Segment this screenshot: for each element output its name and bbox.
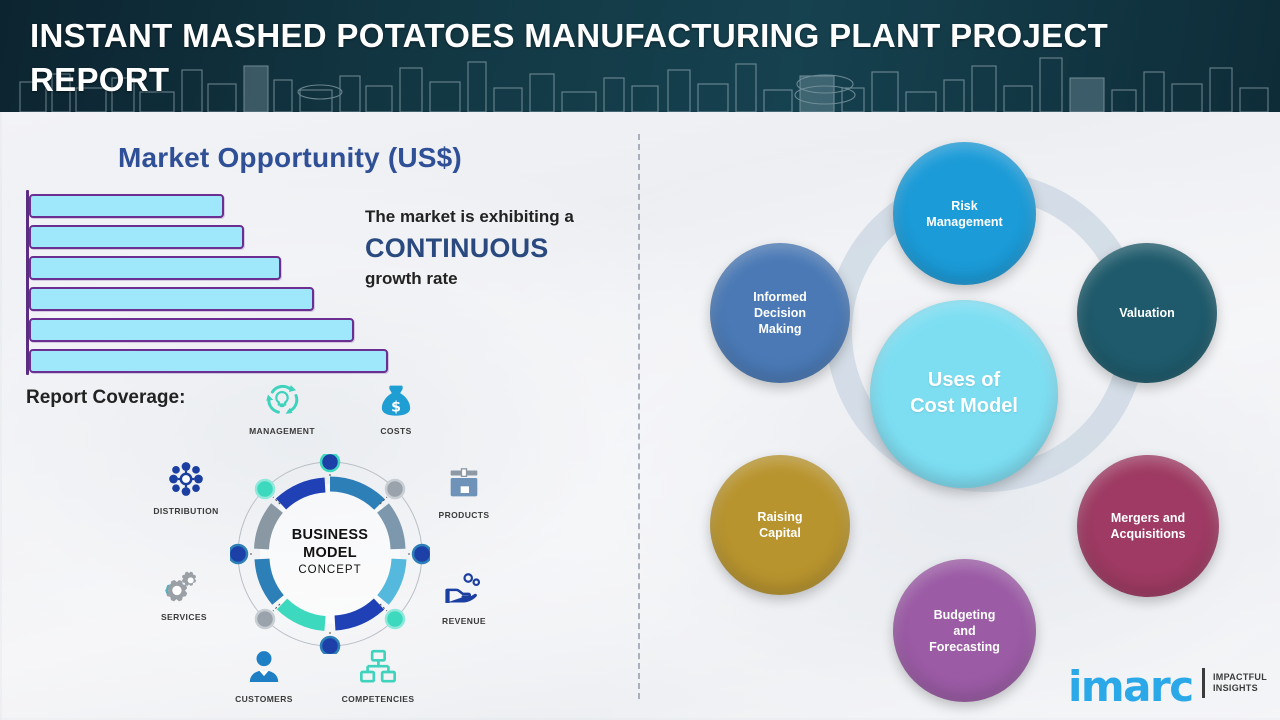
left-panel: Market Opportunity (US$) The market is e… bbox=[0, 112, 638, 720]
node-label-line-1: Informed bbox=[753, 289, 806, 305]
coverage-label: MANAGEMENT bbox=[234, 426, 330, 437]
business-model-infographic: BUSINESS MODEL CONCEPT bbox=[120, 372, 540, 712]
node-label-line-2: Capital bbox=[757, 525, 802, 541]
market-opportunity-title: Market Opportunity (US$) bbox=[118, 142, 462, 174]
diagram-node-raising-capital: Raising Capital bbox=[710, 455, 850, 595]
coverage-item-products: PRODUCTS bbox=[416, 460, 512, 521]
node-label-line-2: and bbox=[929, 623, 1000, 639]
node-label-line-1: Valuation bbox=[1119, 305, 1175, 321]
org-chart-icon bbox=[330, 644, 426, 690]
chart-axis bbox=[26, 190, 29, 375]
network-nodes-icon bbox=[138, 456, 234, 502]
coverage-item-revenue: REVENUE bbox=[416, 566, 512, 627]
uses-of-cost-model-diagram: Uses of Cost Model Risk Management Valua… bbox=[638, 112, 1280, 720]
gears-icon bbox=[136, 562, 232, 608]
wheel-line-2: MODEL bbox=[230, 544, 430, 562]
coverage-item-services: SERVICES bbox=[136, 562, 232, 623]
page-title: INSTANT MASHED POTATOES MANUFACTURING PL… bbox=[30, 14, 1210, 102]
callout-emphasis: CONTINUOUS bbox=[365, 229, 630, 267]
coverage-item-management: MANAGEMENT bbox=[234, 376, 330, 437]
coverage-label: COSTS bbox=[348, 426, 444, 437]
diagram-node-mergers-acquisitions: Mergers and Acquisitions bbox=[1077, 455, 1219, 597]
business-model-center-text: BUSINESS MODEL CONCEPT bbox=[230, 526, 430, 576]
callout-line-1: The market is exhibiting a bbox=[365, 205, 630, 229]
diagram-node-risk-management: Risk Management bbox=[893, 142, 1036, 285]
callout-line-3: growth rate bbox=[365, 267, 630, 291]
node-label-line-1: Risk bbox=[926, 198, 1002, 214]
coverage-label: COMPETENCIES bbox=[330, 694, 426, 705]
diagram-node-budgeting-forecasting: Budgeting and Forecasting bbox=[893, 559, 1036, 702]
business-model-wheel: BUSINESS MODEL CONCEPT bbox=[230, 454, 430, 654]
slide: INSTANT MASHED POTATOES MANUFACTURING PL… bbox=[0, 0, 1280, 720]
chart-bar bbox=[29, 256, 281, 280]
coverage-label: SERVICES bbox=[136, 612, 232, 623]
node-label-line-2: Acquisitions bbox=[1110, 526, 1185, 542]
chart-bar bbox=[29, 318, 354, 342]
chart-bar bbox=[29, 287, 314, 311]
coverage-label: DISTRIBUTION bbox=[138, 506, 234, 517]
person-icon bbox=[216, 644, 312, 690]
svg-text:$: $ bbox=[391, 400, 401, 416]
chart-bar bbox=[29, 349, 388, 373]
node-label-line-3: Making bbox=[753, 321, 806, 337]
slide-header: INSTANT MASHED POTATOES MANUFACTURING PL… bbox=[0, 0, 1280, 112]
wheel-line-3: CONCEPT bbox=[230, 564, 430, 576]
logo-divider bbox=[1202, 668, 1205, 698]
wheel-line-1: BUSINESS bbox=[230, 526, 430, 544]
coverage-item-customers: CUSTOMERS bbox=[216, 644, 312, 705]
coverage-label: PRODUCTS bbox=[416, 510, 512, 521]
package-box-icon bbox=[416, 460, 512, 506]
logo-tagline: IMPACTFUL INSIGHTS bbox=[1213, 672, 1267, 694]
logo-wordmark: imarc bbox=[1068, 662, 1193, 711]
logo-tagline-line-1: IMPACTFUL bbox=[1213, 672, 1267, 683]
node-label-line-1: Mergers and bbox=[1110, 510, 1185, 526]
node-label-line-2: Management bbox=[926, 214, 1002, 230]
node-label-line-3: Forecasting bbox=[929, 639, 1000, 655]
coverage-label: CUSTOMERS bbox=[216, 694, 312, 705]
imarc-logo: imarc IMPACTFUL INSIGHTS bbox=[1068, 660, 1268, 708]
center-node-line-2: Cost Model bbox=[910, 394, 1018, 420]
diagram-node-informed-decision-making: Informed Decision Making bbox=[710, 243, 850, 383]
logo-tagline-line-2: INSIGHTS bbox=[1213, 683, 1267, 694]
growth-callout: The market is exhibiting a CONTINUOUS gr… bbox=[365, 205, 630, 291]
money-bag-icon: $ bbox=[348, 376, 444, 422]
recycle-lightbulb-icon bbox=[234, 376, 330, 422]
node-label-line-1: Budgeting bbox=[929, 607, 1000, 623]
diagram-center-node: Uses of Cost Model bbox=[870, 300, 1058, 488]
coverage-item-distribution: DISTRIBUTION bbox=[138, 456, 234, 517]
coverage-item-costs: $ COSTS bbox=[348, 376, 444, 437]
node-label-line-2: Decision bbox=[753, 305, 806, 321]
chart-bar bbox=[29, 225, 244, 249]
coverage-label: REVENUE bbox=[416, 616, 512, 627]
chart-bar bbox=[29, 194, 224, 218]
coverage-item-competencies: COMPETENCIES bbox=[330, 644, 426, 705]
node-label-line-1: Raising bbox=[757, 509, 802, 525]
center-node-line-1: Uses of bbox=[910, 368, 1018, 394]
hand-coins-icon bbox=[416, 566, 512, 612]
diagram-node-valuation: Valuation bbox=[1077, 243, 1217, 383]
